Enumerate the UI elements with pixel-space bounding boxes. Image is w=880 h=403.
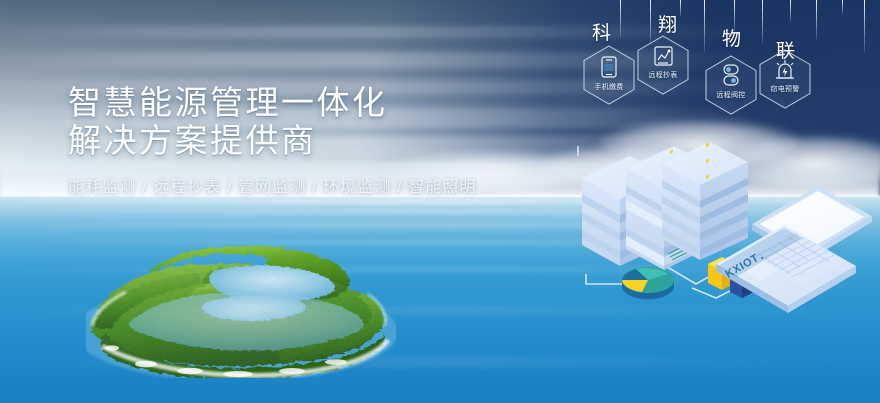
brand-character-wu: 物 (722, 24, 741, 51)
feature-hex-mobile-payment[interactable]: 手机缴费 (580, 44, 638, 108)
feature-hex-valve-control[interactable]: 远程阀控 (702, 54, 760, 118)
brand-character-xiang: 翔 (658, 10, 677, 37)
tick-line (762, 0, 763, 44)
tick-line (704, 0, 705, 52)
tick-line (680, 0, 681, 16)
dollar-sign-island (86, 228, 396, 378)
feature-hexagon-group: 科 翔 物 联 手机缴费 (576, 0, 880, 118)
tick-line (816, 0, 817, 40)
feature-hex-label: 远程阀控 (702, 90, 760, 100)
brand-character-ke: 科 (592, 18, 611, 45)
headline-line-2: 解决方案提供商 (68, 122, 498, 160)
feature-hex-label: 远程抄表 (634, 70, 692, 80)
feature-hex-remote-meter[interactable]: 远程抄表 (634, 34, 692, 98)
isometric-tech-illustration: KXIOT (556, 138, 880, 324)
tick-line (620, 0, 621, 38)
feature-hex-label: 手机缴费 (580, 82, 638, 92)
hero-banner: KXIOT 智慧能源管理一体化 解决方案提供商 能耗监测 / 远程抄表 / 管网… (0, 0, 880, 403)
hero-copy: 智慧能源管理一体化 解决方案提供商 能耗监测 / 远程抄表 / 管网监测 / 环… (68, 84, 498, 197)
feature-hex-theft-alarm[interactable]: 窃电预警 (756, 48, 814, 112)
feature-hex-label: 窃电预警 (756, 84, 814, 94)
tick-line (864, 0, 865, 52)
tick-line (790, 0, 791, 22)
pie-chart-3d (622, 267, 674, 300)
tick-line (842, 0, 843, 14)
headline-line-1: 智慧能源管理一体化 (68, 84, 498, 122)
hero-subtitle: 能耗监测 / 远程抄表 / 管网监测 / 环境监测 / 智能照明 ... (68, 173, 498, 197)
